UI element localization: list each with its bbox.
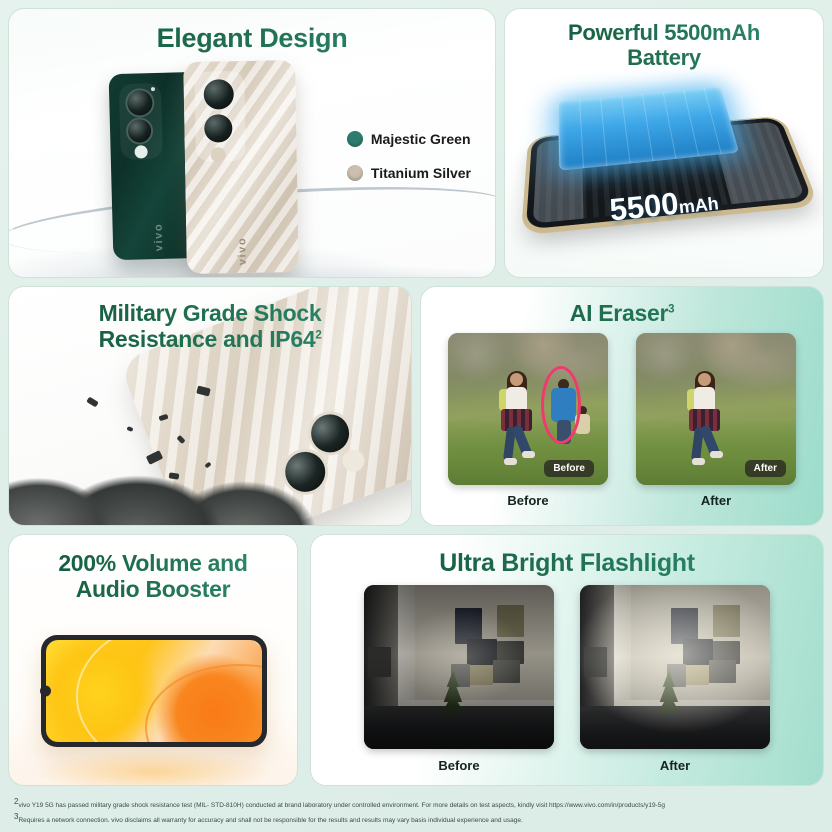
head xyxy=(510,373,523,386)
shoe xyxy=(504,458,517,465)
color-legend: Majestic Green Titanium Silver xyxy=(347,131,471,199)
camera-island xyxy=(194,71,246,162)
card-elegant-design: Elegant Design vivo vivo xyxy=(8,8,496,278)
head xyxy=(698,373,711,386)
hiker-subject xyxy=(496,373,540,469)
before-badge: Before xyxy=(544,460,594,477)
ai-eraser-comparison-row: Before Before xyxy=(421,333,823,508)
card-volume-booster: 200% Volume and Audio Booster xyxy=(8,534,298,786)
hiker-subject xyxy=(684,373,728,469)
light-level-overlay xyxy=(364,585,554,749)
shoe xyxy=(692,458,705,465)
footnote-text-1: vivo Y19 5G has passed military grade sh… xyxy=(18,802,665,809)
volume-title-line1: 200% Volume and xyxy=(58,550,247,576)
card-battery: Powerful 5500mAh Battery 5500mAh xyxy=(504,8,824,278)
led-dot-icon xyxy=(151,87,155,91)
legend-item-majestic-green: Majestic Green xyxy=(347,131,471,147)
after-caption: After xyxy=(636,493,796,508)
ai-eraser-title: AI Eraser3 xyxy=(421,287,823,327)
elegant-design-stage: vivo vivo Majestic Green Titanium Silver xyxy=(9,57,495,278)
camera-flash-icon xyxy=(211,147,226,162)
battery-title-line1: Powerful 5500mAh xyxy=(568,20,760,45)
legend-label: Majestic Green xyxy=(371,131,471,147)
footnote-line-2: 3Requires a network connection. vivo dis… xyxy=(14,811,822,826)
phone-wallpaper-screen xyxy=(46,640,262,742)
card-flashlight: Ultra Bright Flashlight xyxy=(310,534,824,786)
volume-title-line2: Audio Booster xyxy=(76,576,231,602)
flashlight-before-item: Before xyxy=(364,585,554,773)
color-swatch-majestic-green xyxy=(347,131,363,147)
ai-eraser-before-photo: Before xyxy=(448,333,608,485)
debris-fragment xyxy=(86,397,99,408)
debris-fragment xyxy=(126,426,133,432)
product-feature-infographic: Elegant Design vivo vivo xyxy=(0,0,832,832)
flashlight-after-caption: After xyxy=(580,758,770,773)
legend-label: Titanium Silver xyxy=(371,165,471,181)
camera-lens-icon xyxy=(203,79,234,110)
before-caption: Before xyxy=(448,493,608,508)
battery-stage: 5500mAh xyxy=(505,91,823,278)
volume-stage xyxy=(9,621,297,786)
shoe xyxy=(522,451,535,458)
selection-oval-marker xyxy=(541,366,581,444)
shoe xyxy=(710,451,723,458)
battery-title-line2: Battery xyxy=(627,45,701,70)
color-swatch-titanium-silver xyxy=(347,165,363,181)
vivo-logo-mark: vivo xyxy=(152,223,165,252)
camera-lens-icon xyxy=(204,114,232,142)
warm-glow-decor xyxy=(38,751,268,786)
military-grade-title: Military Grade Shock Resistance and IP64… xyxy=(9,287,411,353)
battery-title: Powerful 5500mAh Battery xyxy=(505,9,823,70)
legend-item-titanium-silver: Titanium Silver xyxy=(347,165,471,181)
camera-lens-icon xyxy=(128,119,152,143)
card-military-grade: Military Grade Shock Resistance and IP64… xyxy=(8,286,412,526)
military-title-superscript: 2 xyxy=(315,329,321,341)
volume-title: 200% Volume and Audio Booster xyxy=(9,535,297,603)
flashlight-after-item: After xyxy=(580,585,770,773)
camera-flash-icon xyxy=(134,145,147,158)
phone-titanium-silver: vivo xyxy=(183,60,299,274)
after-badge: After xyxy=(745,460,786,477)
ai-eraser-after-item: After After xyxy=(636,333,796,508)
camera-flash-icon xyxy=(339,447,367,475)
rock-surface-decor xyxy=(8,443,329,525)
camera-lens-icon xyxy=(127,90,153,116)
flashlight-title: Ultra Bright Flashlight xyxy=(311,535,823,577)
debris-fragment xyxy=(169,472,180,479)
flashlight-before-caption: Before xyxy=(364,758,554,773)
phone-landscape-illustration xyxy=(41,635,267,747)
military-title-line1: Military Grade Shock xyxy=(99,300,322,326)
ai-eraser-before-item: Before Before xyxy=(448,333,608,508)
flashlight-comparison-row: Before xyxy=(311,585,823,773)
elegant-design-title: Elegant Design xyxy=(9,9,495,53)
footnotes: 2vivo Y19 5G has passed military grade s… xyxy=(14,796,822,826)
military-title-line2: Resistance and IP64 xyxy=(99,326,316,352)
ai-eraser-after-photo: After xyxy=(636,333,796,485)
flashlight-before-photo xyxy=(364,585,554,749)
card-ai-eraser: AI Eraser3 xyxy=(420,286,824,526)
ai-eraser-title-text: AI Eraser xyxy=(570,300,668,326)
flashlight-after-photo xyxy=(580,585,770,749)
battery-capacity-number: 5500 xyxy=(608,186,680,228)
light-level-overlay xyxy=(580,585,770,749)
footnote-line-1: 2vivo Y19 5G has passed military grade s… xyxy=(14,796,822,811)
ai-eraser-title-superscript: 3 xyxy=(668,303,674,315)
camera-island xyxy=(119,83,163,160)
battery-capacity-unit: mAh xyxy=(678,193,720,217)
front-camera-notch-icon xyxy=(40,686,51,697)
footnote-text-2: Requires a network connection. vivo disc… xyxy=(18,817,522,824)
vivo-logo-mark: vivo xyxy=(236,237,248,266)
